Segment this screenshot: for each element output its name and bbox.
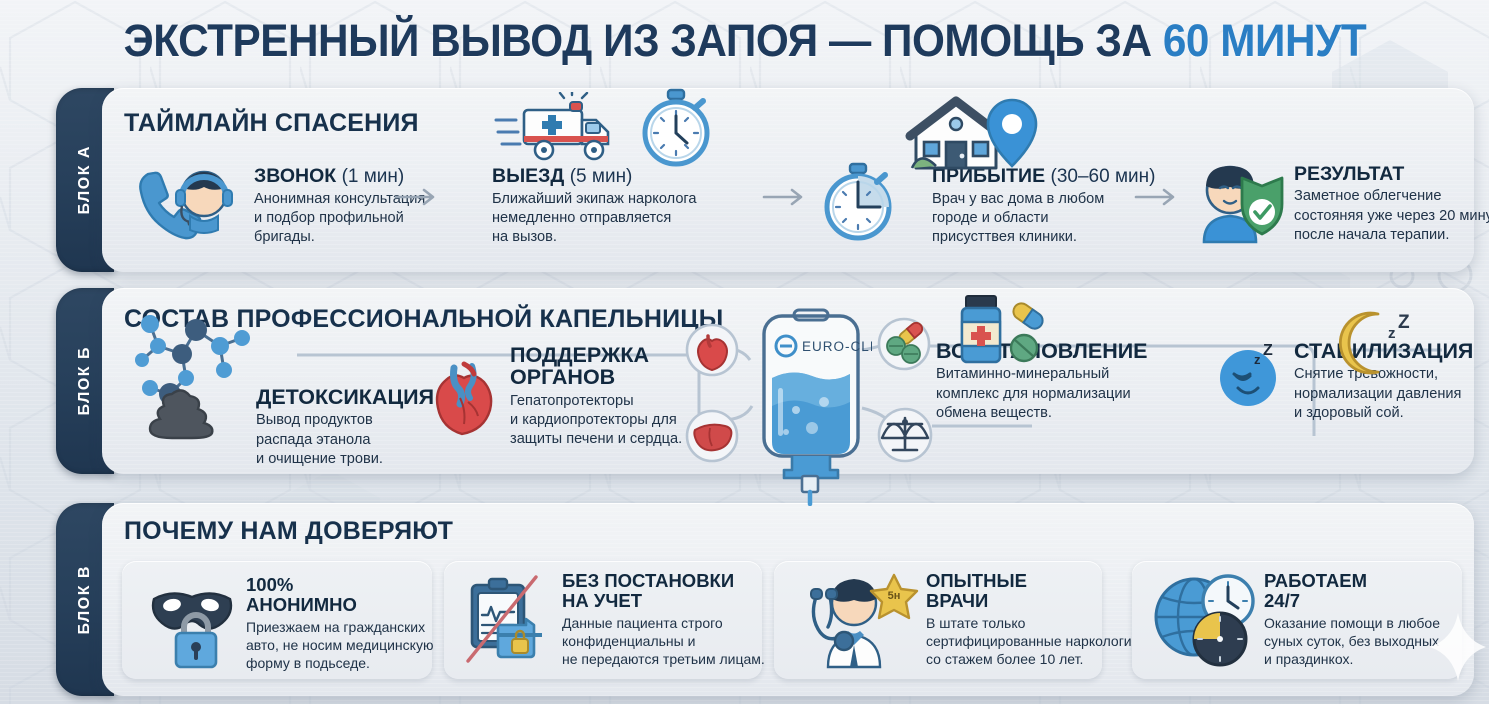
- balance-scales-bubble: [876, 406, 934, 464]
- item-organ-head-2: ОРГАНОВ: [510, 366, 682, 388]
- step-result-head: РЕЗУЛЬТАТ: [1294, 164, 1489, 184]
- step-arrival: ПРИБЫТИЕ (30–60 мин) Врач у вас дома в л…: [818, 166, 1155, 248]
- step-departure: ВЫЕЗД (5 мин) Ближайший экипаж нарколога…: [454, 166, 697, 248]
- stopwatch-icon-a3: [818, 162, 898, 244]
- phone-headset-icon: [132, 160, 240, 246]
- house-location-pin-icon: [904, 94, 1044, 174]
- step-arrival-body: Врач у вас дома в любом городе и области…: [932, 190, 1155, 248]
- molecule-detox-icon: [124, 302, 254, 442]
- item-organ-support: ПОДДЕРЖКА ОРГАНОВ Гепатопротекторы и кар…: [428, 344, 682, 449]
- step-result: РЕЗУЛЬТАТ Заметное облегчение состояняя …: [1190, 164, 1489, 245]
- card-anonymous[interactable]: 100% АНОНИМНО Приезжаем на гражданских а…: [122, 561, 432, 679]
- card-no-registration-head-1: БЕЗ ПОСТАНОВКИ: [562, 571, 765, 591]
- step-call-head: ЗВОНОК (1 мин): [254, 166, 425, 187]
- item-detox-head: ДЕТОКСИКАЦИЯ: [256, 386, 434, 408]
- pills-capsules-bubble: [876, 316, 932, 372]
- page-header: ЭКСТРЕННЫЙ ВЫВОД ИЗ ЗАПОЯ — ПОМОЩЬ ЗА 60…: [0, 8, 1489, 74]
- step-departure-time: (5 мин): [570, 166, 633, 187]
- block-c: БЛОК В ПОЧЕМУ НАМ ДОВЕРЯЮТ 100% АНОНИМНО…: [56, 503, 1474, 696]
- step-result-body: Заметное облегчение состояняя уже через …: [1294, 187, 1489, 245]
- iv-drip-bag-icon: EURO-CLINIC: [750, 306, 872, 506]
- page-title: ЭКСТРЕННЫЙ ВЫВОД ИЗ ЗАПОЯ — ПОМОЩЬ ЗА 60…: [123, 15, 1366, 67]
- card-doctors-head-1: ОПЫТНЫЕ: [926, 571, 1132, 591]
- title-main-text: ЭКСТРЕННЫЙ ВЫВОД ИЗ ЗАПОЯ — ПОМОЩЬ ЗА: [123, 15, 1162, 66]
- block-a-title: ТАЙМЛАЙН СПАСЕНИЯ: [124, 109, 419, 138]
- step-arrival-time: (30–60 мин): [1051, 166, 1156, 187]
- block-a: БЛОК А ТАЙМЛАЙН СПАСЕНИЯ ЗВОНОК (1 мин) …: [56, 88, 1474, 272]
- crescent-moon-zzz-icon: z Z: [1334, 308, 1420, 378]
- card-anonymous-body: Приезжаем на гражданских авто, не носим …: [246, 618, 433, 673]
- heart-anatomical-icon: [428, 358, 502, 436]
- block-c-title: ПОЧЕМУ НАМ ДОВЕРЯЮТ: [124, 517, 453, 546]
- card-24-7-body: Оказание помощи в любое суных суток, без…: [1264, 614, 1440, 669]
- stopwatch-icon-a2: [637, 88, 715, 168]
- item-organ-body: Гепатопротекторы и кардиопротекторы для …: [510, 392, 682, 450]
- item-detox: ДЕТОКСИКАЦИЯ Вывод продуктов распада эта…: [132, 334, 434, 469]
- card-24-7-head-2: 24/7: [1264, 591, 1440, 611]
- card-anonymous-head-1: 100%: [246, 575, 433, 595]
- no-record-clipboard-icon: [462, 573, 554, 669]
- block-b-tab-label: БЛОК Б: [76, 346, 94, 415]
- step-call-title: ЗВОНОК: [254, 165, 336, 187]
- heart-organ-bubble: [684, 322, 740, 378]
- person-shield-check-icon: [1190, 160, 1286, 244]
- step-departure-title: ВЫЕЗД: [492, 165, 564, 187]
- block-a-tab-label: БЛОК А: [76, 145, 94, 215]
- item-recovery: ВОССТАНОВЛЕНИЕ Витаминно-минеральный ком…: [936, 340, 1148, 423]
- card-24-7-head-1: РАБОТАЕМ: [1264, 571, 1440, 591]
- globe-clock-icon: [1152, 573, 1258, 669]
- mask-padlock-icon: [148, 577, 240, 671]
- card-no-registration-head-2: НА УЧЕТ: [562, 591, 765, 611]
- svg-text:z: z: [1254, 352, 1261, 367]
- step-call-time: (1 мин): [342, 166, 405, 187]
- step-departure-body: Ближайший экипаж нарколога немедленно от…: [492, 190, 697, 248]
- arrow-right-icon-1: [394, 186, 440, 208]
- card-anonymous-head-2: АНОНИМНО: [246, 595, 433, 615]
- arrow-right-icon-3: [1134, 186, 1180, 208]
- step-call: ЗВОНОК (1 мин) Анонимная консультация и …: [132, 166, 425, 248]
- block-b: БЛОК Б СОСТАВ ПРОФЕССИОНАЛЬНОЙ КАПЕЛЬНИЦ…: [56, 288, 1474, 474]
- medicine-bottle-pills-icon: [950, 294, 1060, 368]
- item-recovery-body: Витаминно-минеральный комплекс для норма…: [936, 365, 1148, 423]
- block-c-tab-label: БЛОК В: [76, 565, 94, 635]
- svg-text:Z: Z: [1398, 312, 1410, 333]
- doctor-badge-text: 5н: [888, 590, 901, 602]
- ambulance-icon: [494, 92, 624, 166]
- item-organ-head-1: ПОДДЕРЖКА: [510, 344, 682, 366]
- card-24-7[interactable]: РАБОТАЕМ 24/7 Оказание помощи в любое су…: [1132, 561, 1462, 679]
- card-doctors-body: В штате только сертифицированные нарколо…: [926, 614, 1132, 669]
- iv-brand-label: EURO-CLINIC: [802, 339, 872, 354]
- step-result-title: РЕЗУЛЬТАТ: [1294, 163, 1404, 185]
- arrow-right-icon-2: [762, 186, 808, 208]
- sparkle-icon: [1428, 611, 1488, 683]
- liver-organ-bubble: [684, 408, 740, 464]
- item-detox-body: Вывод продуктов распада этанола и очищен…: [256, 411, 434, 469]
- doctor-stethoscope-star-icon: 5н: [798, 571, 920, 671]
- svg-text:z: z: [1388, 325, 1396, 342]
- card-no-registration[interactable]: БЕЗ ПОСТАНОВКИ НА УЧЕТ Данные пациента с…: [444, 561, 762, 679]
- step-departure-head: ВЫЕЗД (5 мин): [492, 166, 697, 187]
- card-experienced-doctors[interactable]: 5н ОПЫТНЫЕ ВРАЧИ В штате только сертифиц…: [774, 561, 1102, 679]
- card-doctors-head-2: ВРАЧИ: [926, 591, 1132, 611]
- card-no-registration-body: Данные пациента строго конфиденциальны и…: [562, 614, 765, 669]
- svg-text:Z: Z: [1263, 342, 1273, 359]
- infographic-root: ЭКСТРЕННЫЙ ВЫВОД ИЗ ЗАПОЯ — ПОМОЩЬ ЗА 60…: [0, 0, 1489, 704]
- title-accent-text: 60 МИНУТ: [1162, 15, 1365, 66]
- sleeping-face-icon: z Z: [1216, 340, 1290, 410]
